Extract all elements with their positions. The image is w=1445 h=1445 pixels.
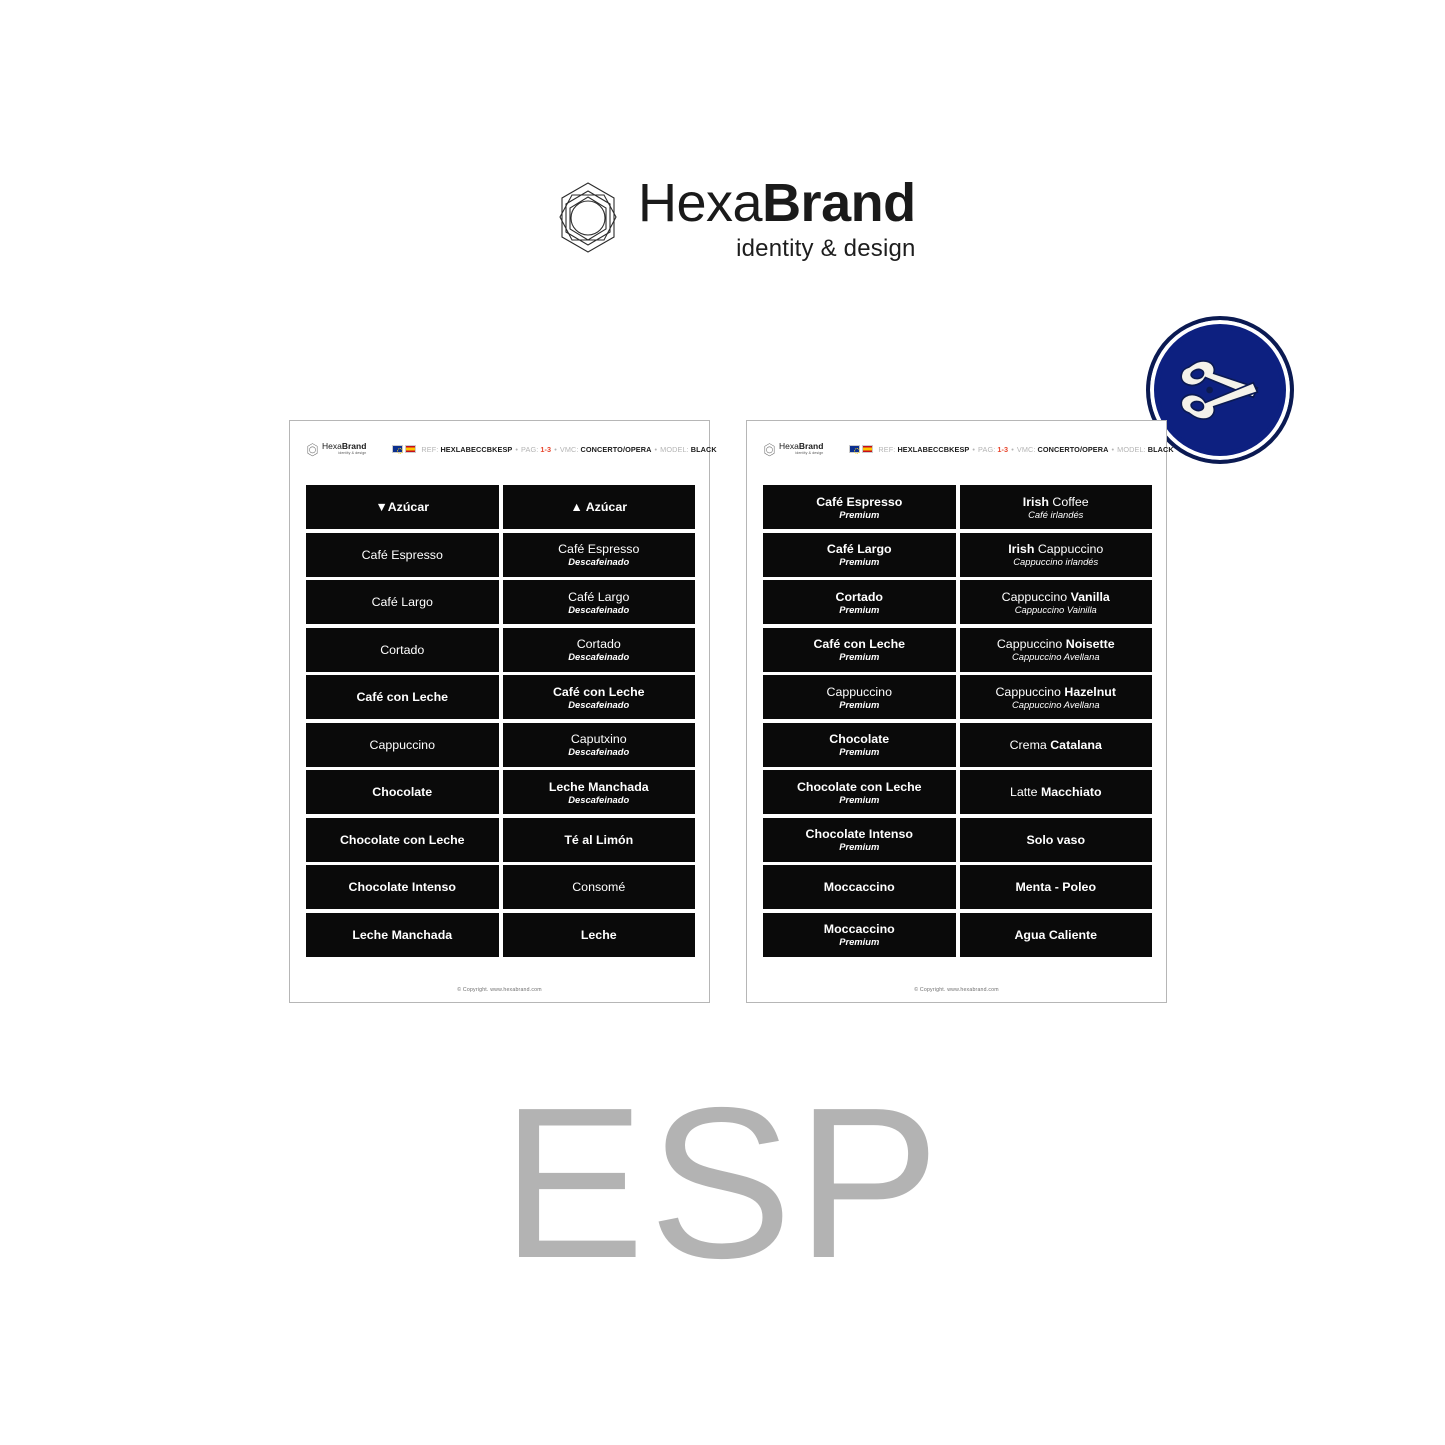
- product-label[interactable]: Café con LecheDescafeinado: [503, 675, 696, 719]
- separator-dot: •: [1112, 445, 1115, 454]
- product-label[interactable]: Café EspressoDescafeinado: [503, 533, 696, 577]
- product-label-title-text: Agua Caliente: [1014, 928, 1097, 942]
- brand-lockup: HexaBrand identity & design: [552, 174, 916, 264]
- product-label-title-text: Cappuccino: [370, 738, 435, 752]
- product-label-title: Menta - Poleo: [1015, 880, 1096, 894]
- product-label-title: Café Largo: [372, 595, 433, 609]
- product-label-title: Latte Macchiato: [1010, 785, 1102, 799]
- product-label-title: Café con Leche: [813, 637, 905, 651]
- product-label-title-text: Solo vaso: [1026, 833, 1085, 847]
- product-label[interactable]: Menta - Poleo: [960, 865, 1153, 909]
- sheet-reference-line: REF: HEXLABECCBKESP • PAG: 1-3 • VMC: CO…: [849, 445, 1173, 454]
- product-label-title: ▲ Azúcar: [570, 500, 627, 514]
- product-label-title: Chocolate Intenso: [349, 880, 456, 894]
- product-label[interactable]: Cappuccino: [306, 723, 499, 767]
- product-label-subtitle: Descafeinado: [568, 794, 629, 805]
- sheet-header-left: HexaBrand identity & design REF: HEXLABE…: [290, 421, 709, 477]
- product-label-title: Café con Leche: [553, 685, 645, 699]
- product-label-title-prefix: Cappuccino: [997, 637, 1066, 651]
- spain-flag-icon: [405, 445, 416, 453]
- product-label-title-text: Consomé: [572, 880, 625, 894]
- product-label-title: Cortado: [836, 590, 884, 604]
- ref-value: HEXLABECCBKESP: [897, 445, 969, 454]
- product-label[interactable]: Cappuccino VanillaCappuccino Vainilla: [960, 580, 1153, 624]
- product-label[interactable]: Chocolate con LechePremium: [763, 770, 956, 814]
- ref-label: REF:: [421, 445, 438, 454]
- product-label-title: Chocolate con Leche: [797, 780, 922, 794]
- labels-grid-right: Café EspressoPremiumIrish CoffeeCafé irl…: [763, 485, 1152, 957]
- product-label[interactable]: Chocolate IntensoPremium: [763, 818, 956, 862]
- product-label-subtitle: Premium: [839, 794, 879, 805]
- model-value: BLACK: [691, 445, 717, 454]
- product-label-title-text: Té al Limón: [564, 833, 633, 847]
- product-label-title-text: Café Espresso: [816, 495, 902, 509]
- brand-name-bold: Brand: [762, 173, 916, 233]
- vmc-value: CONCERTO/OPERA: [581, 445, 652, 454]
- product-label-title: Café Espresso: [816, 495, 902, 509]
- product-label[interactable]: Irish CoffeeCafé irlandés: [960, 485, 1153, 529]
- product-label[interactable]: Chocolate: [306, 770, 499, 814]
- product-label[interactable]: Leche: [503, 913, 696, 957]
- label-sheet-left: HexaBrand identity & design REF: HEXLABE…: [289, 420, 710, 1003]
- product-label[interactable]: Crema Catalana: [960, 723, 1153, 767]
- product-label-title: Moccaccino: [824, 922, 895, 936]
- product-label-title-text: Café Largo: [827, 542, 892, 556]
- ref-label: REF:: [878, 445, 895, 454]
- product-label-title: Crema Catalana: [1010, 738, 1102, 752]
- product-label-title: Chocolate Intenso: [806, 827, 913, 841]
- product-label[interactable]: Cortado: [306, 628, 499, 672]
- pag-label: PAG:: [521, 445, 538, 454]
- hexagon-mark-icon: [306, 443, 319, 457]
- product-label-subtitle: Cappuccino irlandés: [1013, 556, 1098, 567]
- mini-brand-name-bold: Brand: [342, 441, 367, 451]
- product-label[interactable]: ChocolatePremium: [763, 723, 956, 767]
- product-label-title: Irish Cappuccino: [1008, 542, 1103, 556]
- product-label[interactable]: Cappuccino NoisetteCappuccino Avellana: [960, 628, 1153, 672]
- product-label-title: Café Espresso: [362, 548, 443, 562]
- product-label-title-prefix: Irish: [1023, 495, 1053, 509]
- product-label-title-text: Cappuccino: [1038, 542, 1103, 556]
- product-label-title-text: Café con Leche: [813, 637, 905, 651]
- product-label-title-text: Chocolate Intenso: [806, 827, 913, 841]
- product-label-title: Moccaccino: [824, 880, 895, 894]
- eu-flag-icon: [392, 445, 403, 453]
- product-label-title: Cappuccino Noisette: [997, 637, 1115, 651]
- mini-brand-tagline: identity & design: [779, 451, 823, 456]
- product-label-title-text: Cortado: [836, 590, 884, 604]
- product-label-title-text: Hazelnut: [1064, 685, 1116, 699]
- product-label-title-text: Café con Leche: [356, 690, 448, 704]
- product-label[interactable]: ▼Azúcar: [306, 485, 499, 529]
- ref-value: HEXLABECCBKESP: [440, 445, 512, 454]
- product-label[interactable]: Café con LechePremium: [763, 628, 956, 672]
- product-label[interactable]: Agua Caliente: [960, 913, 1153, 957]
- product-label-subtitle: Descafeinado: [568, 604, 629, 615]
- sheet-reference-line: REF: HEXLABECCBKESP • PAG: 1-3 • VMC: CO…: [392, 445, 716, 454]
- product-label-title: Café Espresso: [558, 542, 639, 556]
- product-label-subtitle: Premium: [839, 651, 879, 662]
- product-label-title: Café con Leche: [356, 690, 448, 704]
- product-label-subtitle: Premium: [839, 699, 879, 710]
- product-label-title-prefix: Cappuccino: [1002, 590, 1071, 604]
- eu-flag-icon: [849, 445, 860, 453]
- spain-flag-icon: [862, 445, 873, 453]
- product-label-title: Café Largo: [827, 542, 892, 556]
- product-label[interactable]: CortadoDescafeinado: [503, 628, 696, 672]
- label-sheet-right: HexaBrand identity & design REF: HEXLABE…: [746, 420, 1167, 1003]
- product-label-title: Cortado: [380, 643, 424, 657]
- mini-brand-name: HexaBrand: [779, 442, 823, 451]
- product-label[interactable]: Café Espresso: [306, 533, 499, 577]
- product-label-title-prefix: Crema: [1010, 738, 1051, 752]
- product-label-title: Leche Manchada: [352, 928, 452, 942]
- product-label[interactable]: CaputxinoDescafeinado: [503, 723, 696, 767]
- product-label[interactable]: Café LargoDescafeinado: [503, 580, 696, 624]
- product-label-title-text: ▲ Azúcar: [570, 500, 627, 514]
- brand-name-light: Hexa: [638, 173, 762, 233]
- product-label-title: ▼Azúcar: [375, 500, 429, 514]
- product-label[interactable]: Té al Limón: [503, 818, 696, 862]
- product-label-subtitle: Premium: [839, 556, 879, 567]
- sheet-footer-left: © Copyright. www.hexabrand.com: [290, 987, 709, 993]
- product-label-title: Caputxino: [571, 732, 627, 746]
- cut-here-badge: [1146, 316, 1294, 464]
- mini-brand-tagline: identity & design: [322, 451, 366, 456]
- language-watermark: ESP: [0, 1075, 1445, 1290]
- mini-brand-lockup: HexaBrand identity & design: [763, 442, 823, 457]
- product-label-subtitle: Premium: [839, 604, 879, 615]
- product-label-subtitle: Premium: [839, 509, 879, 520]
- mini-brand-lockup: HexaBrand identity & design: [306, 442, 366, 457]
- product-label-subtitle: Premium: [839, 936, 879, 947]
- product-label-title-text: Café Espresso: [558, 542, 639, 556]
- product-label[interactable]: Cappuccino HazelnutCappuccino Avellana: [960, 675, 1153, 719]
- product-label-title-prefix: Latte: [1010, 785, 1041, 799]
- product-label-subtitle: Cappuccino Vainilla: [1015, 604, 1097, 615]
- product-label[interactable]: CortadoPremium: [763, 580, 956, 624]
- product-label-title: Chocolate con Leche: [340, 833, 465, 847]
- product-label-title-text: Café Largo: [372, 595, 433, 609]
- hexagon-mark-icon: [763, 443, 776, 457]
- product-label-title-text: Café con Leche: [553, 685, 645, 699]
- product-label[interactable]: Leche ManchadaDescafeinado: [503, 770, 696, 814]
- separator-dot: •: [1011, 445, 1014, 454]
- product-label-title-prefix: Cappuccino: [995, 685, 1064, 699]
- product-label[interactable]: ▲ Azúcar: [503, 485, 696, 529]
- model-label: MODEL:: [1117, 445, 1146, 454]
- product-label-title: Agua Caliente: [1014, 928, 1097, 942]
- product-label-title-text: Cappuccino: [827, 685, 892, 699]
- product-label[interactable]: Solo vaso: [960, 818, 1153, 862]
- product-label-title-text: Moccaccino: [824, 880, 895, 894]
- product-label-title-text: Cortado: [577, 637, 621, 651]
- product-label-title: Chocolate: [829, 732, 889, 746]
- product-label-title-text: Coffee: [1052, 495, 1088, 509]
- product-label[interactable]: Chocolate con Leche: [306, 818, 499, 862]
- product-label[interactable]: Café LargoPremium: [763, 533, 956, 577]
- product-label[interactable]: Café EspressoPremium: [763, 485, 956, 529]
- product-label-title-text: Catalana: [1050, 738, 1102, 752]
- product-label-title-text: Café Espresso: [362, 548, 443, 562]
- product-label-title: Té al Limón: [564, 833, 633, 847]
- product-label-title-text: Caputxino: [571, 732, 627, 746]
- brand-tagline: identity & design: [638, 234, 916, 264]
- product-label[interactable]: Leche Manchada: [306, 913, 499, 957]
- product-label-subtitle: Café irlandés: [1028, 509, 1083, 520]
- product-label-title-text: Leche Manchada: [549, 780, 649, 794]
- product-label[interactable]: Consomé: [503, 865, 696, 909]
- scissors-icon: [1168, 338, 1272, 442]
- product-label-title: Café Largo: [568, 590, 629, 604]
- product-label[interactable]: Irish CappuccinoCappuccino irlandés: [960, 533, 1153, 577]
- product-label[interactable]: Café Largo: [306, 580, 499, 624]
- model-value: BLACK: [1148, 445, 1174, 454]
- product-label-title: Cappuccino: [370, 738, 435, 752]
- mini-brand-name-light: Hexa: [779, 441, 799, 451]
- product-label-subtitle: Descafeinado: [568, 651, 629, 662]
- product-label-subtitle: Descafeinado: [568, 556, 629, 567]
- product-label-subtitle: Cappuccino Avellana: [1012, 651, 1100, 662]
- product-label-title-text: Chocolate: [829, 732, 889, 746]
- product-label-title-text: Menta - Poleo: [1015, 880, 1096, 894]
- product-label-title-text: Leche Manchada: [352, 928, 452, 942]
- product-label-title-text: Cortado: [380, 643, 424, 657]
- product-label[interactable]: MoccaccinoPremium: [763, 913, 956, 957]
- hexagon-mark-icon: [552, 180, 624, 258]
- product-label-title-prefix: Irish: [1008, 542, 1038, 556]
- brand-header: HexaBrand identity & design: [0, 160, 1445, 310]
- separator-dot: •: [554, 445, 557, 454]
- model-label: MODEL:: [660, 445, 689, 454]
- product-label-title: Cappuccino: [827, 685, 892, 699]
- product-label-title: Solo vaso: [1026, 833, 1085, 847]
- product-label-title: Cappuccino Vanilla: [1002, 590, 1110, 604]
- product-label-title: Chocolate: [372, 785, 432, 799]
- page-title: HexaBrand: [638, 174, 916, 232]
- product-label-title: Leche Manchada: [549, 780, 649, 794]
- product-label-title: Consomé: [572, 880, 625, 894]
- product-label-title-text: Moccaccino: [824, 922, 895, 936]
- product-label-title-text: Noisette: [1066, 637, 1115, 651]
- product-label-title-text: ▼Azúcar: [375, 500, 429, 514]
- sheet-footer-right: © Copyright. www.hexabrand.com: [747, 987, 1166, 993]
- product-label[interactable]: Café con Leche: [306, 675, 499, 719]
- mini-brand-name-bold: Brand: [799, 441, 824, 451]
- separator-dot: •: [655, 445, 658, 454]
- product-label-title-text: Macchiato: [1041, 785, 1102, 799]
- vmc-value: CONCERTO/OPERA: [1038, 445, 1109, 454]
- separator-dot: •: [972, 445, 975, 454]
- product-label-title: Leche: [581, 928, 617, 942]
- product-label-title: Cappuccino Hazelnut: [995, 685, 1116, 699]
- separator-dot: •: [515, 445, 518, 454]
- product-label[interactable]: Chocolate Intenso: [306, 865, 499, 909]
- product-label-subtitle: Descafeinado: [568, 746, 629, 757]
- product-label[interactable]: CappuccinoPremium: [763, 675, 956, 719]
- product-label-title-text: Chocolate Intenso: [349, 880, 456, 894]
- pag-label: PAG:: [978, 445, 995, 454]
- pag-value: 1-3: [540, 445, 551, 454]
- product-label-subtitle: Premium: [839, 841, 879, 852]
- product-label-title-text: Café Largo: [568, 590, 629, 604]
- product-label-subtitle: Premium: [839, 746, 879, 757]
- product-label-title-text: Chocolate con Leche: [340, 833, 465, 847]
- sheet-header-right: HexaBrand identity & design REF: HEXLABE…: [747, 421, 1166, 477]
- page-canvas: HexaBrand identity & design: [0, 0, 1445, 1445]
- product-label[interactable]: Moccaccino: [763, 865, 956, 909]
- pag-value: 1-3: [997, 445, 1008, 454]
- mini-brand-name-light: Hexa: [322, 441, 342, 451]
- vmc-label: VMC:: [560, 445, 579, 454]
- labels-grid-left: ▼Azúcar▲ AzúcarCafé EspressoCafé Espress…: [306, 485, 695, 957]
- product-label-title-text: Vanilla: [1071, 590, 1110, 604]
- product-label-title: Irish Coffee: [1023, 495, 1089, 509]
- mini-brand-name: HexaBrand: [322, 442, 366, 451]
- product-label-title-text: Chocolate con Leche: [797, 780, 922, 794]
- product-label-title-text: Leche: [581, 928, 617, 942]
- product-label-subtitle: Descafeinado: [568, 699, 629, 710]
- vmc-label: VMC:: [1017, 445, 1036, 454]
- product-label[interactable]: Latte Macchiato: [960, 770, 1153, 814]
- product-label-subtitle: Cappuccino Avellana: [1012, 699, 1100, 710]
- product-label-title-text: Chocolate: [372, 785, 432, 799]
- product-label-title: Cortado: [577, 637, 621, 651]
